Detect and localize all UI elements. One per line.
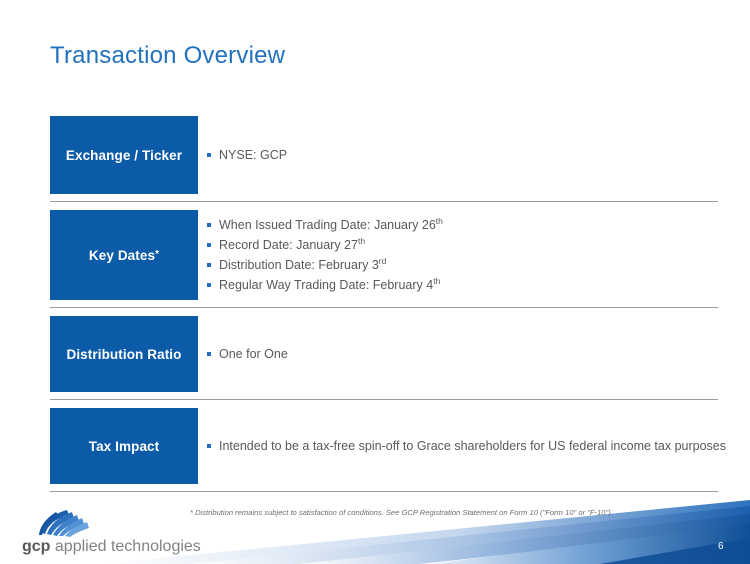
- row-body-tax-impact: Intended to be a tax-free spin-off to Gr…: [205, 408, 718, 484]
- row-label-text: Tax Impact: [89, 439, 160, 454]
- content-row-distribution-ratio: Distribution Ratio One for One: [50, 316, 718, 392]
- content-row-key-dates: Key Dates* When Issued Trading Date: Jan…: [50, 210, 718, 300]
- list-item: Regular Way Trading Date: February 4th: [205, 275, 718, 295]
- slide-canvas: Transaction Overview Exchange / Ticker N…: [0, 0, 750, 564]
- bullet-text: One for One: [219, 347, 288, 361]
- bullet-ordinal-suffix: th: [433, 276, 440, 286]
- bullet-ordinal-suffix: th: [436, 216, 443, 226]
- brand-logo-text: gcp applied technologies: [22, 538, 201, 556]
- row-body-key-dates: When Issued Trading Date: January 26th R…: [205, 210, 718, 300]
- brand-name: gcp: [22, 538, 50, 555]
- bullet-ordinal-suffix: th: [358, 236, 365, 246]
- list-item: Intended to be a tax-free spin-off to Gr…: [205, 436, 718, 456]
- content-row-tax-impact: Tax Impact Intended to be a tax-free spi…: [50, 408, 718, 484]
- list-item: One for One: [205, 344, 718, 364]
- row-label-key-dates: Key Dates*: [50, 210, 198, 300]
- row-body-exchange-ticker: NYSE: GCP: [205, 116, 718, 194]
- row-divider: [50, 399, 718, 400]
- row-label-text: Exchange / Ticker: [66, 148, 182, 163]
- list-item: Record Date: January 27th: [205, 235, 718, 255]
- row-label-text: Distribution Ratio: [66, 347, 181, 362]
- bullet-text: When Issued Trading Date: January 26: [219, 218, 436, 232]
- page-title: Transaction Overview: [50, 42, 285, 70]
- bullet-ordinal-suffix: rd: [379, 256, 387, 266]
- row-divider: [50, 307, 718, 308]
- gcp-fan-mark-icon: [34, 505, 96, 537]
- brand-tagline: applied technologies: [50, 538, 200, 555]
- row-divider: [50, 491, 718, 492]
- list-item: When Issued Trading Date: January 26th: [205, 215, 718, 235]
- page-number: 6: [718, 541, 724, 552]
- fan-shape-icon: [34, 505, 96, 537]
- footnote-text: * Distribution remains subject to satisf…: [190, 508, 613, 517]
- bullet-text: Record Date: January 27: [219, 238, 358, 252]
- row-divider: [50, 201, 718, 202]
- row-body-distribution-ratio: One for One: [205, 316, 718, 392]
- row-label-tax-impact: Tax Impact: [50, 408, 198, 484]
- list-item: Distribution Date: February 3rd: [205, 255, 718, 275]
- row-label-exchange-ticker: Exchange / Ticker: [50, 116, 198, 194]
- list-item: NYSE: GCP: [205, 145, 718, 165]
- brand-logo: gcp applied technologies: [22, 505, 197, 563]
- content-row-exchange-ticker: Exchange / Ticker NYSE: GCP: [50, 116, 718, 194]
- bullet-text: Distribution Date: February 3: [219, 258, 379, 272]
- bullet-text: NYSE: GCP: [219, 148, 287, 162]
- row-label-distribution-ratio: Distribution Ratio: [50, 316, 198, 392]
- bullet-text: Intended to be a tax-free spin-off to Gr…: [219, 439, 726, 453]
- bullet-text: Regular Way Trading Date: February 4: [219, 278, 433, 292]
- row-label-text: Key Dates: [89, 248, 155, 263]
